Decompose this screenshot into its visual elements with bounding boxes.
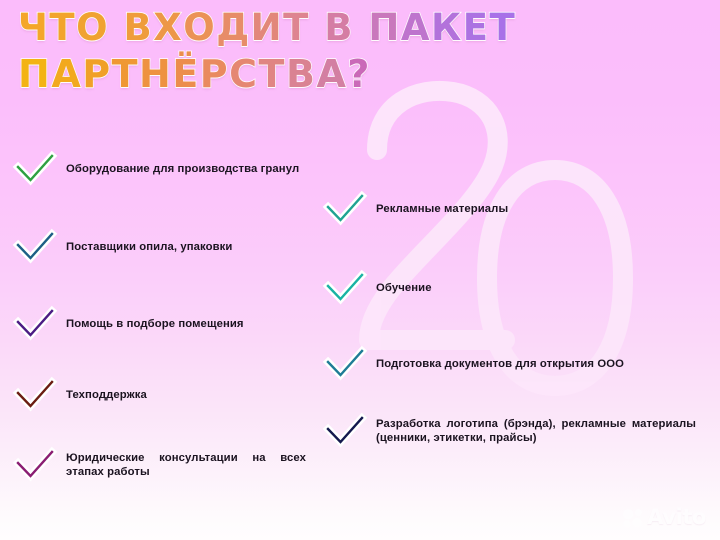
checklist-item-label: Техподдержка: [66, 388, 306, 402]
checklist-item: Разработка логотипа (брэнда), рекламные …: [324, 412, 714, 450]
avito-dots-icon: [622, 508, 644, 528]
poster-title: ЧТО ВХОДИТ В ПАКЕТ ПАРТНЁРСТВА?: [18, 6, 708, 96]
checklist-item: Оборудование для производства гранул: [14, 150, 324, 188]
title-letter: С: [229, 52, 258, 96]
checklist-item-label: Обучение: [376, 281, 696, 295]
title-letter: К: [431, 6, 463, 50]
checkmark-icon: [14, 446, 56, 484]
checklist-item-label: Оборудование для производства гранул: [66, 162, 306, 176]
checklist-item: Рекламные материалы: [324, 190, 714, 228]
checklist-item-label: Юридические консультации на всех этапах …: [66, 451, 306, 479]
checkmark-icon: [14, 376, 56, 414]
checklist-item: Поставщики опила, упаковки: [14, 228, 324, 266]
title-letter: Х: [153, 6, 183, 50]
title-letter: П: [368, 6, 400, 50]
checklist-item: Подготовка документов для открытия ООО: [324, 345, 714, 383]
checkmark-icon: [324, 412, 366, 450]
checkmark-icon: [324, 345, 366, 383]
title-letter: А: [401, 6, 431, 50]
checklist-item-label: Разработка логотипа (брэнда), рекламные …: [376, 417, 696, 445]
checkmark-icon: [14, 150, 56, 188]
title-letter: А: [316, 52, 347, 96]
poster-canvas: ЧТО ВХОДИТ В ПАКЕТ ПАРТНЁРСТВА? Оборудов…: [0, 0, 720, 540]
checklist-item: Юридические консультации на всех этапах …: [14, 446, 324, 484]
checklist-item: Обучение: [324, 269, 714, 307]
checklist-item-label: Поставщики опила, упаковки: [66, 240, 306, 254]
checklist-item-label: Подготовка документов для открытия ООО: [376, 357, 696, 371]
title-letter: А: [51, 52, 82, 96]
title-letter: Ч: [18, 6, 49, 50]
title-letter: О: [76, 6, 109, 50]
title-letter: ?: [347, 52, 371, 96]
title-letter: Т: [259, 52, 286, 96]
title-letter: О: [183, 6, 216, 50]
checklist-item-label: Рекламные материалы: [376, 202, 696, 216]
title-letter: В: [124, 6, 154, 50]
title-letter: [109, 6, 123, 50]
checkmark-icon: [324, 269, 366, 307]
title-letter: В: [286, 52, 316, 96]
title-line-1: ЧТО ВХОДИТ В ПАКЕТ: [18, 6, 708, 50]
title-letter: П: [18, 52, 51, 96]
title-letter: [310, 6, 324, 50]
checkmark-icon: [324, 190, 366, 228]
title-letter: И: [251, 6, 283, 50]
title-letter: Т: [112, 52, 139, 96]
title-letter: Е: [463, 6, 490, 50]
checkmark-icon: [14, 228, 56, 266]
title-letter: Н: [139, 52, 172, 96]
title-letter: Р: [200, 52, 229, 96]
title-letter: Ё: [172, 52, 199, 96]
title-letter: Р: [82, 52, 111, 96]
title-letter: Т: [283, 6, 310, 50]
checklist-item: Техподдержка: [14, 376, 324, 414]
title-letter: Т: [490, 6, 517, 50]
title-line-2: ПАРТНЁРСТВА?: [18, 52, 708, 96]
title-letter: Д: [216, 6, 250, 50]
checklist-item: Помощь в подборе помещения: [14, 305, 324, 343]
title-letter: Т: [49, 6, 76, 50]
title-letter: [354, 6, 368, 50]
checkmark-icon: [14, 305, 56, 343]
checklist-item-label: Помощь в подборе помещения: [66, 317, 306, 331]
title-letter: В: [324, 6, 354, 50]
avito-wordmark: Avito: [647, 507, 706, 528]
avito-watermark: Avito: [622, 507, 706, 528]
